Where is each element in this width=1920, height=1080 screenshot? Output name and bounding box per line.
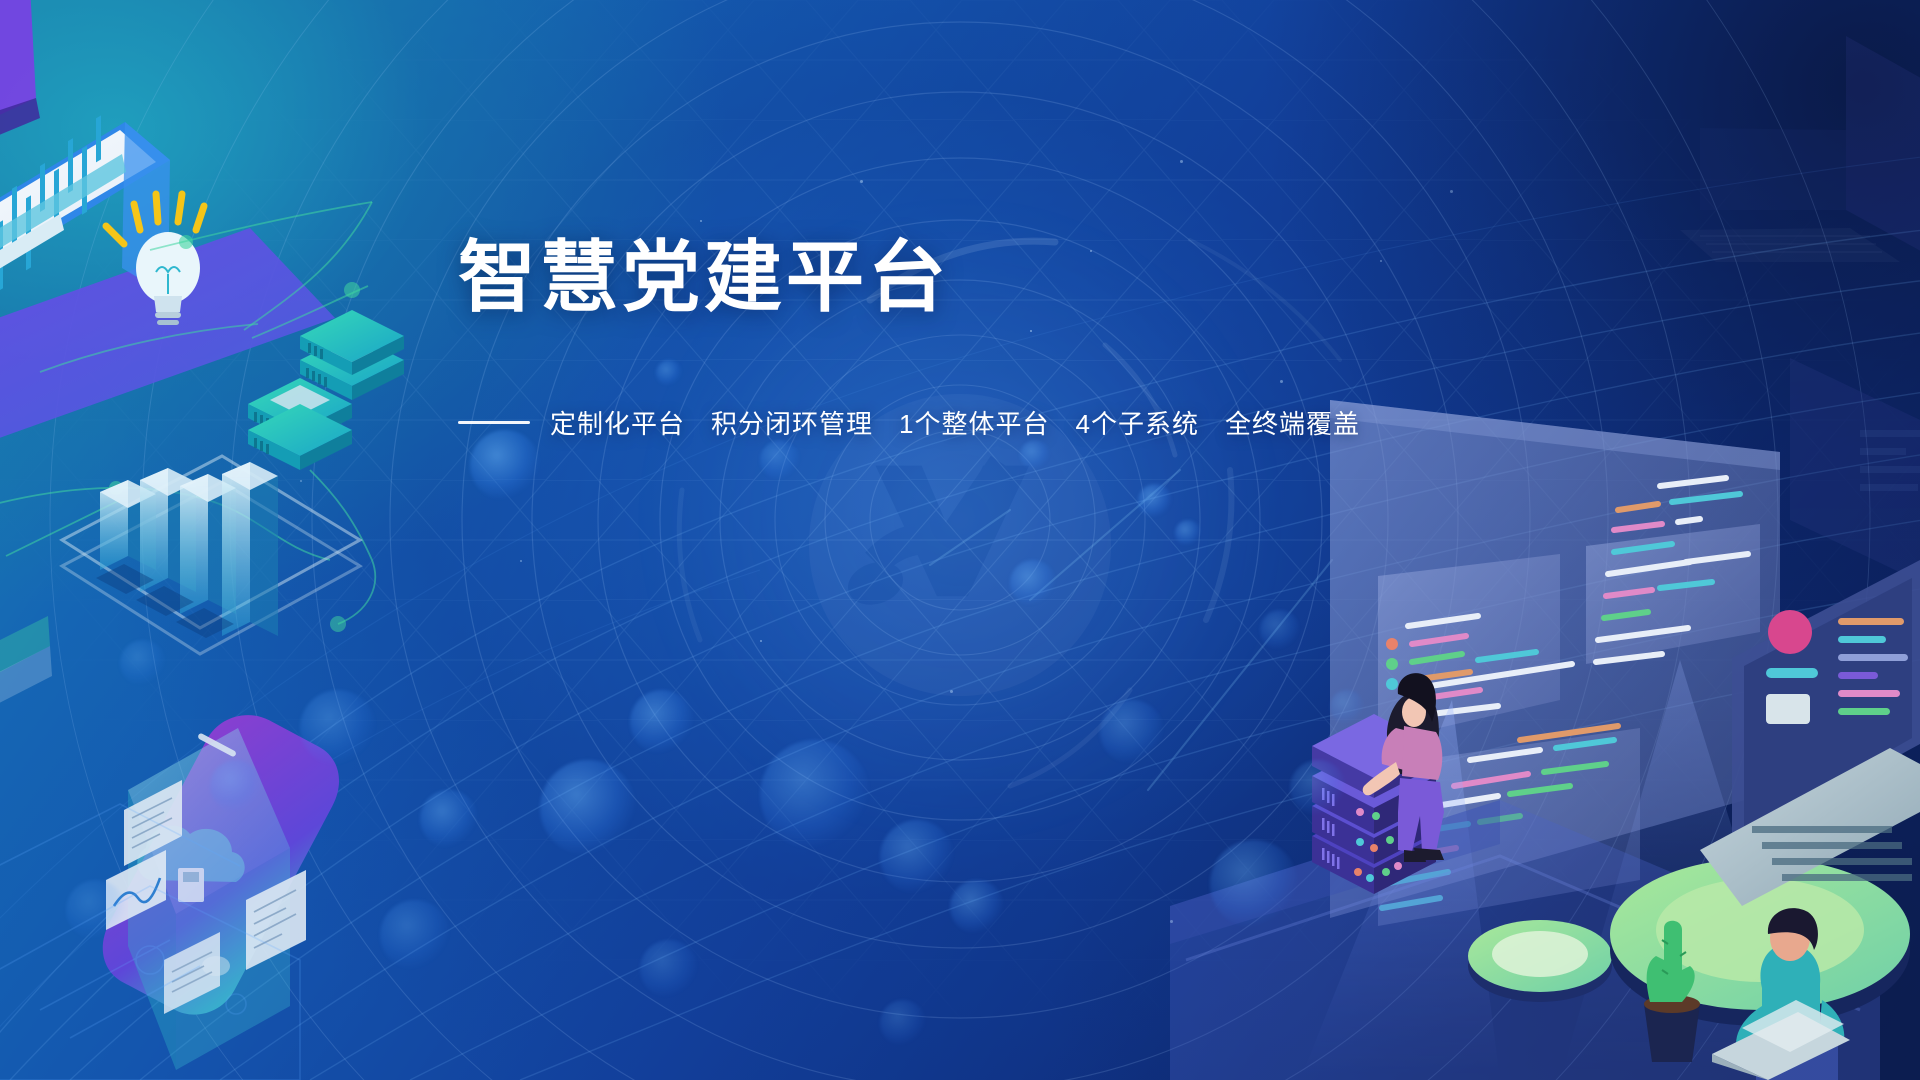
isometric-bar-chart [62, 456, 360, 654]
green-podium-small [1468, 920, 1612, 1002]
subtitle-segment-3: 4个子系统 [1076, 409, 1199, 439]
green-podium-large [1610, 858, 1910, 1026]
subtitle-segment-0: 定制化平台 [550, 409, 685, 439]
radial-ripple-rings [0, 0, 1920, 1080]
code-card-silhouette [1420, 392, 1560, 446]
cpc-emblem-icon [0, 0, 1920, 1080]
subtitle-divider-rule [458, 421, 530, 424]
corner-slab [0, 0, 40, 158]
dashboard-panel-b [1586, 478, 1760, 664]
sparkle-specks [0, 0, 1920, 1080]
background-monitor-silhouette [1790, 358, 1920, 620]
dashboard-panel-c [1378, 654, 1662, 926]
seated-person-with-laptop [1712, 908, 1850, 1080]
right-illustration [0, 0, 1920, 1080]
subtitle-segment-1: 积分闭环管理 [711, 409, 873, 439]
desk-plate [0, 228, 335, 470]
lightbulb-icon [106, 194, 204, 325]
light-beams [1300, 660, 1810, 1080]
wall-dashboard-screen [1330, 400, 1780, 926]
page-title: 智慧党建平台 [458, 238, 950, 316]
subtitle-segment-4: 全终端覆盖 [1225, 409, 1360, 439]
floor-plate [1170, 800, 1880, 1080]
teal-wedge [0, 616, 52, 722]
floating-cards [106, 780, 306, 1014]
left-illustration [0, 0, 1920, 1080]
background-laptop-silhouette [1680, 36, 1920, 300]
banner-canvas: 智慧党建平台 定制化平台积分闭环管理1个整体平台4个子系统全终端覆盖 [0, 0, 1920, 1080]
bokeh-particles [0, 0, 1920, 1080]
light-streak-lines [0, 0, 1920, 1080]
server-rack-stack [1312, 714, 1436, 894]
network-switch-stack [248, 310, 404, 470]
subtitle-segment-2: 1个整体平台 [899, 409, 1049, 439]
smartphone-icon [88, 699, 354, 1070]
subtitle-text: 定制化平台积分闭环管理1个整体平台4个子系统全终端覆盖 [550, 404, 1360, 441]
circuit-traces [0, 202, 375, 632]
desktop-monitor-icon [0, 115, 170, 470]
potted-cactus-icon [1644, 921, 1700, 1062]
hex-grid-icon [0, 0, 1920, 1080]
standing-presenter-figure [1363, 673, 1444, 862]
isometric-laptop-icon [1700, 560, 1920, 906]
circuit-board-silhouette [0, 804, 300, 1080]
dashboard-panel-a [1378, 554, 1560, 742]
subtitle-row: 定制化平台积分闭环管理1个整体平台4个子系统全终端覆盖 [458, 404, 1360, 441]
